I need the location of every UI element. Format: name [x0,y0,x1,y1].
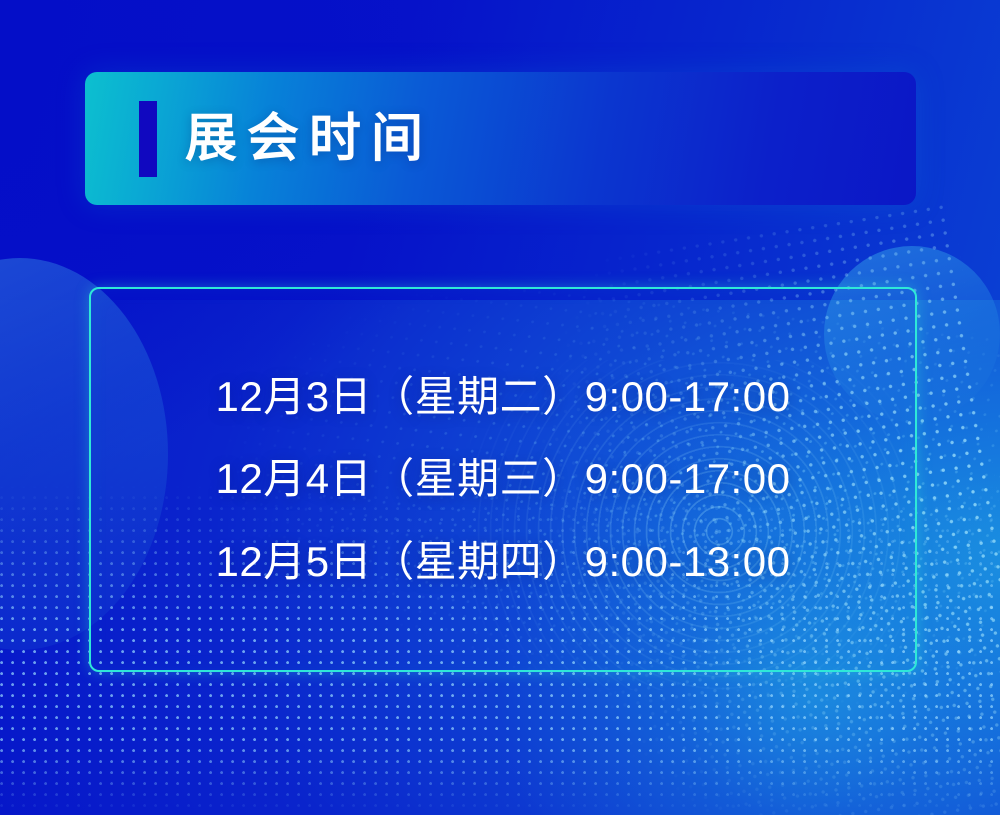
list-item: 12月3日（星期二）9:00-17:00 [216,375,791,419]
list-item: 12月5日（星期四）9:00-13:00 [216,540,791,584]
list-item: 12月4日（星期三）9:00-17:00 [216,457,791,501]
schedule-card: 12月3日（星期二）9:00-17:00 12月4日（星期三）9:00-17:0… [89,287,917,672]
page-title: 展会时间 [185,113,433,165]
header-accent-bar [139,101,157,177]
schedule-list: 12月3日（星期二）9:00-17:00 12月4日（星期三）9:00-17:0… [216,375,791,583]
header-banner: 展会时间 [85,72,916,205]
exhibition-schedule-poster: 展会时间 12月3日（星期二）9:00-17:00 12月4日（星期三）9:00… [0,0,1000,815]
